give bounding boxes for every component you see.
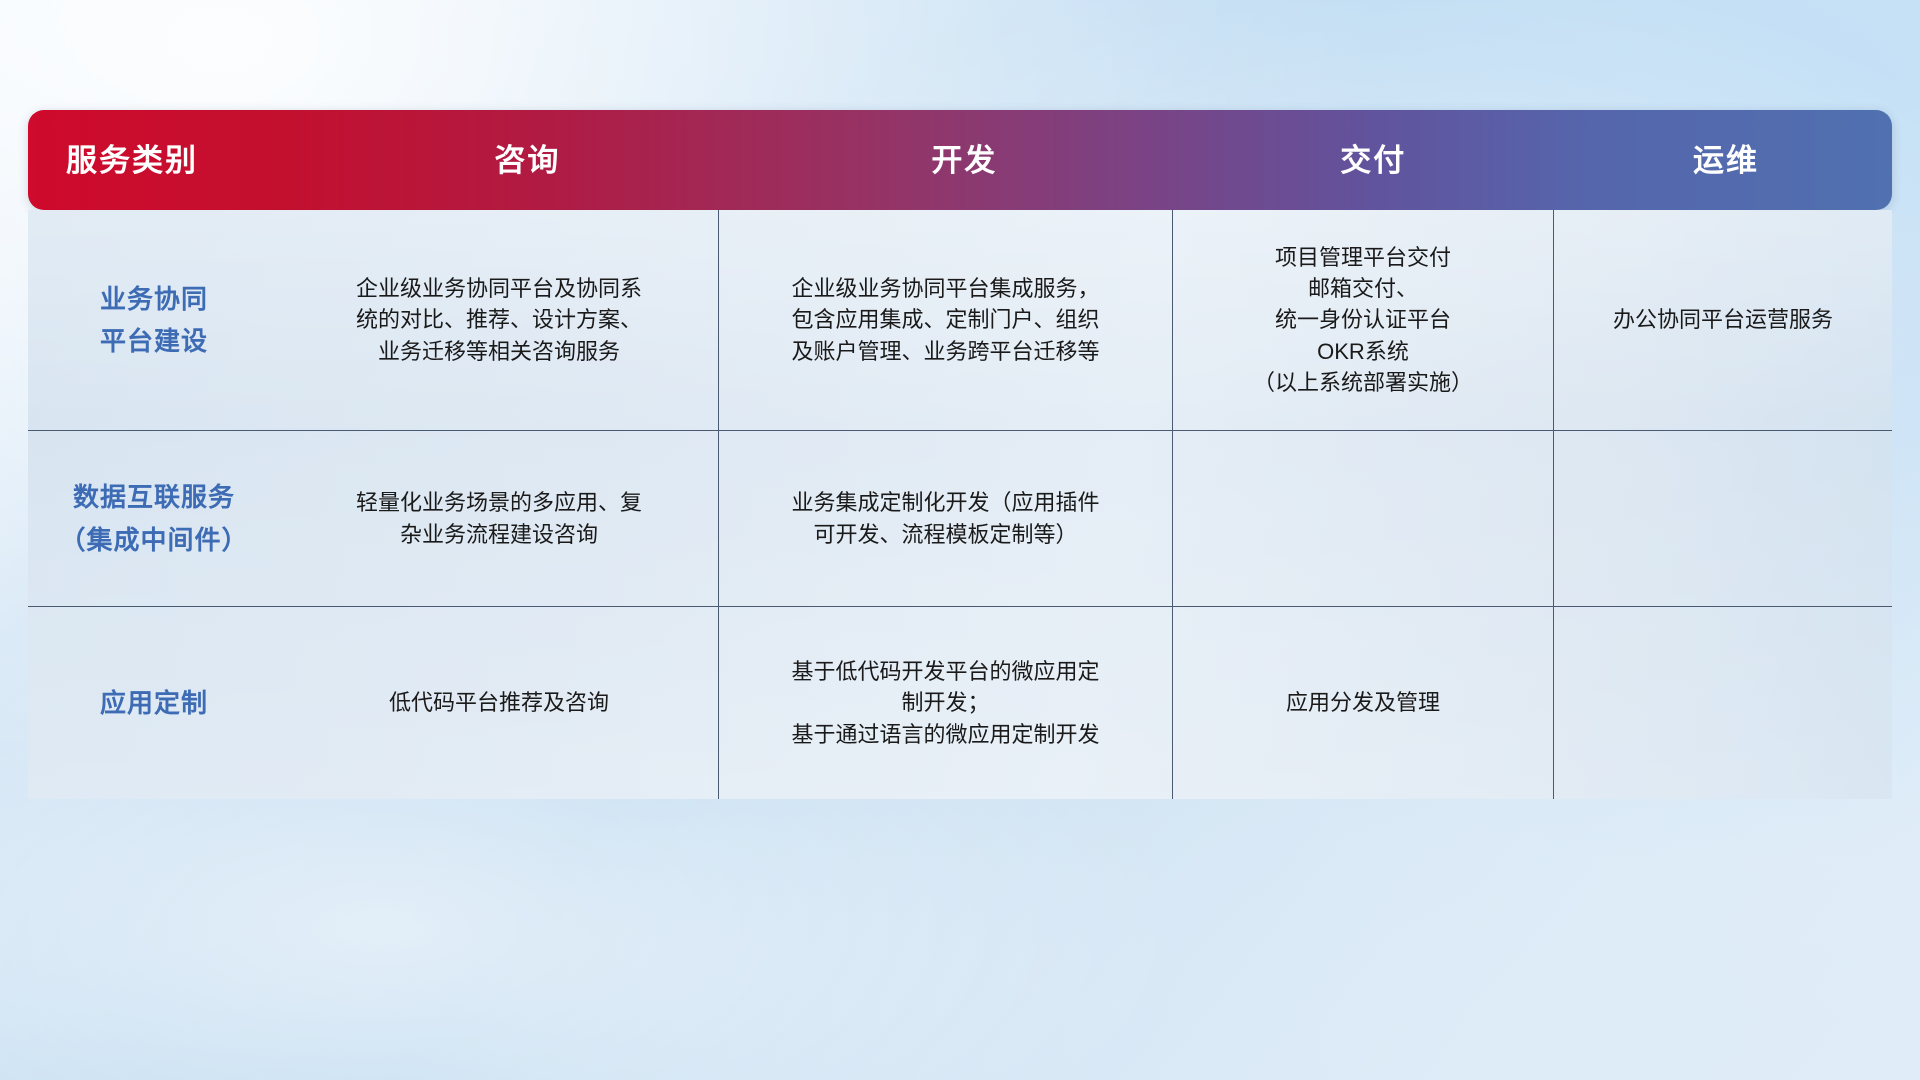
column-header-category: 服务类别	[28, 110, 313, 210]
table-row: 应用定制 低代码平台推荐及咨询 基于低代码开发平台的微应用定 制开发； 基于通过…	[28, 606, 1892, 799]
cell-development: 企业级业务协同平台集成服务， 包含应用集成、定制门户、组织 及账户管理、业务跨平…	[718, 210, 1172, 430]
row-category-label: 业务协同 平台建设	[28, 210, 280, 430]
cell-operations	[1553, 607, 1892, 799]
table-body: 业务协同 平台建设 企业级业务协同平台及协同系 统的对比、推荐、设计方案、 业务…	[28, 210, 1892, 799]
cell-consulting: 企业级业务协同平台及协同系 统的对比、推荐、设计方案、 业务迁移等相关咨询服务	[280, 210, 718, 430]
cell-delivery: 应用分发及管理	[1172, 607, 1553, 799]
column-header-delivery: 交付	[1187, 110, 1560, 210]
row-category-label: 应用定制	[28, 607, 280, 799]
column-header-development: 开发	[742, 110, 1187, 210]
cell-development: 基于低代码开发平台的微应用定 制开发； 基于通过语言的微应用定制开发	[718, 607, 1172, 799]
cell-delivery: 项目管理平台交付 邮箱交付、 统一身份认证平台 OKR系统 （以上系统部署实施）	[1172, 210, 1553, 430]
cell-development: 业务集成定制化开发（应用插件 可开发、流程模板定制等）	[718, 431, 1172, 606]
cell-delivery	[1172, 431, 1553, 606]
service-matrix-table: 服务类别 咨询 开发 交付 运维 业务协同 平台建设 企业级业务协同平台及协同系…	[28, 110, 1892, 799]
cell-consulting: 低代码平台推荐及咨询	[280, 607, 718, 799]
cell-operations: 办公协同平台运营服务	[1553, 210, 1892, 430]
table-row: 数据互联服务 （集成中间件） 轻量化业务场景的多应用、复 杂业务流程建设咨询 业…	[28, 430, 1892, 606]
row-category-label: 数据互联服务 （集成中间件）	[28, 431, 280, 606]
table-row: 业务协同 平台建设 企业级业务协同平台及协同系 统的对比、推荐、设计方案、 业务…	[28, 210, 1892, 430]
column-header-operations: 运维	[1560, 110, 1892, 210]
cell-consulting: 轻量化业务场景的多应用、复 杂业务流程建设咨询	[280, 431, 718, 606]
column-header-consulting: 咨询	[313, 110, 742, 210]
cell-operations	[1553, 431, 1892, 606]
table-header-row: 服务类别 咨询 开发 交付 运维	[28, 110, 1892, 210]
slide-canvas: 服务类别 咨询 开发 交付 运维 业务协同 平台建设 企业级业务协同平台及协同系…	[0, 0, 1920, 1080]
